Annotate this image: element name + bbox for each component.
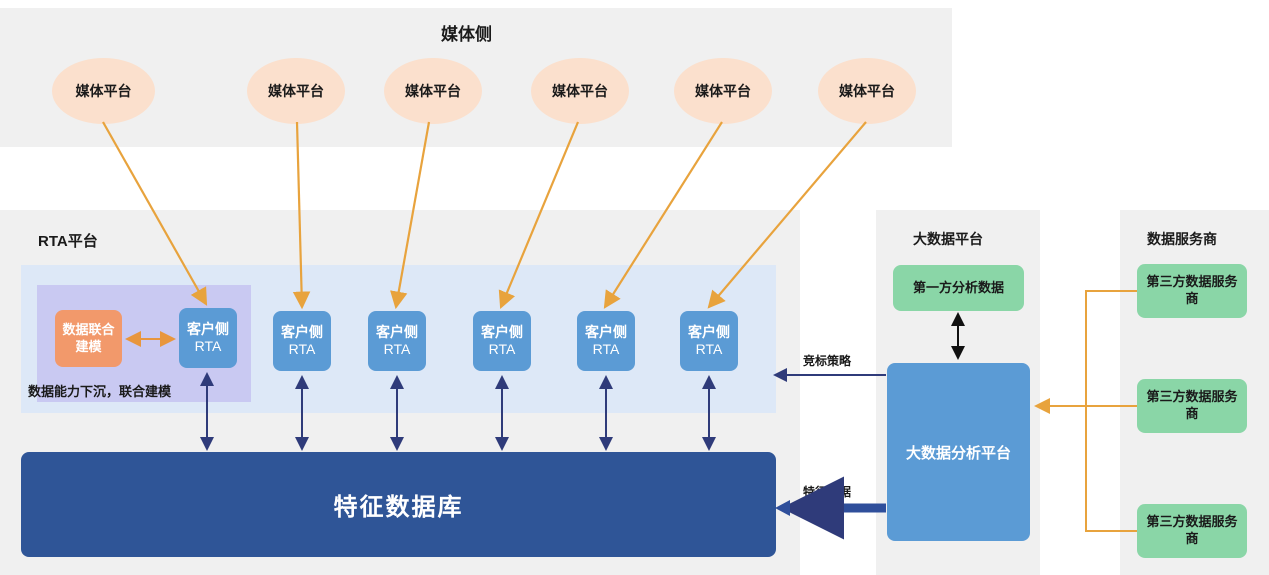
third-party-vendor-box-2[interactable]: 第三方数据服务商 <box>1137 379 1247 433</box>
bid-strategy-label: 竞标策略 <box>803 352 851 369</box>
bigdata-panel-title: 大数据平台 <box>913 229 983 249</box>
client-rta-box-4[interactable]: 客户侧 RTA <box>473 311 531 371</box>
third-party-vendor-label: 第三方数据服务商 <box>1143 514 1241 548</box>
first-party-data-box[interactable]: 第一方分析数据 <box>893 265 1024 311</box>
media-platform-6[interactable]: 媒体平台 <box>818 58 916 124</box>
client-rta-line1: 客户侧 <box>481 324 523 342</box>
joint-modeling-box[interactable]: 数据联合建模 <box>55 310 122 367</box>
media-platform-5[interactable]: 媒体平台 <box>674 58 772 124</box>
client-rta-line1: 客户侧 <box>688 324 730 342</box>
client-rta-line2: RTA <box>696 341 723 359</box>
feature-data-label: 特征数据 <box>803 483 851 500</box>
feature-database-label: 特征数据库 <box>334 487 464 522</box>
client-rta-line2: RTA <box>489 341 516 359</box>
client-rta-line2: RTA <box>384 341 411 359</box>
media-platform-label: 媒体平台 <box>552 81 608 101</box>
client-rta-box-6[interactable]: 客户侧 RTA <box>680 311 738 371</box>
bigdata-analytics-platform-label: 大数据分析平台 <box>906 442 1011 463</box>
client-rta-line1: 客户侧 <box>187 321 229 339</box>
diagram-canvas: 媒体侧 媒体平台 媒体平台 媒体平台 媒体平台 媒体平台 媒体平台 RTA平台 … <box>0 0 1269 575</box>
feature-database-box[interactable]: 特征数据库 <box>21 452 776 557</box>
media-platform-label: 媒体平台 <box>695 81 751 101</box>
media-platform-1[interactable]: 媒体平台 <box>52 58 155 124</box>
client-rta-box-5[interactable]: 客户侧 RTA <box>577 311 635 371</box>
client-rta-line1: 客户侧 <box>376 324 418 342</box>
third-party-vendor-label: 第三方数据服务商 <box>1143 389 1241 423</box>
third-party-vendor-box-1[interactable]: 第三方数据服务商 <box>1137 264 1247 318</box>
joint-modeling-label: 数据联合建模 <box>59 322 118 355</box>
media-platform-3[interactable]: 媒体平台 <box>384 58 482 124</box>
client-rta-box-3[interactable]: 客户侧 RTA <box>368 311 426 371</box>
media-platform-label: 媒体平台 <box>268 81 324 101</box>
third-party-vendor-box-3[interactable]: 第三方数据服务商 <box>1137 504 1247 558</box>
media-platform-label: 媒体平台 <box>76 81 132 101</box>
rta-caption: 数据能力下沉，联合建模 <box>28 381 171 400</box>
rta-panel-title: RTA平台 <box>38 230 98 251</box>
media-platform-2[interactable]: 媒体平台 <box>247 58 345 124</box>
media-platform-4[interactable]: 媒体平台 <box>531 58 629 124</box>
client-rta-box-1[interactable]: 客户侧 RTA <box>179 308 237 368</box>
first-party-data-label: 第一方分析数据 <box>913 280 1004 297</box>
client-rta-line1: 客户侧 <box>585 324 627 342</box>
client-rta-line2: RTA <box>289 341 316 359</box>
vendor-panel-title: 数据服务商 <box>1147 229 1217 249</box>
media-platform-label: 媒体平台 <box>839 81 895 101</box>
client-rta-line2: RTA <box>195 338 222 356</box>
media-panel-title: 媒体侧 <box>441 20 492 45</box>
client-rta-line1: 客户侧 <box>281 324 323 342</box>
third-party-vendor-label: 第三方数据服务商 <box>1143 274 1241 308</box>
client-rta-line2: RTA <box>593 341 620 359</box>
client-rta-box-2[interactable]: 客户侧 RTA <box>273 311 331 371</box>
media-platform-label: 媒体平台 <box>405 81 461 101</box>
bigdata-analytics-platform-box[interactable]: 大数据分析平台 <box>887 363 1030 541</box>
